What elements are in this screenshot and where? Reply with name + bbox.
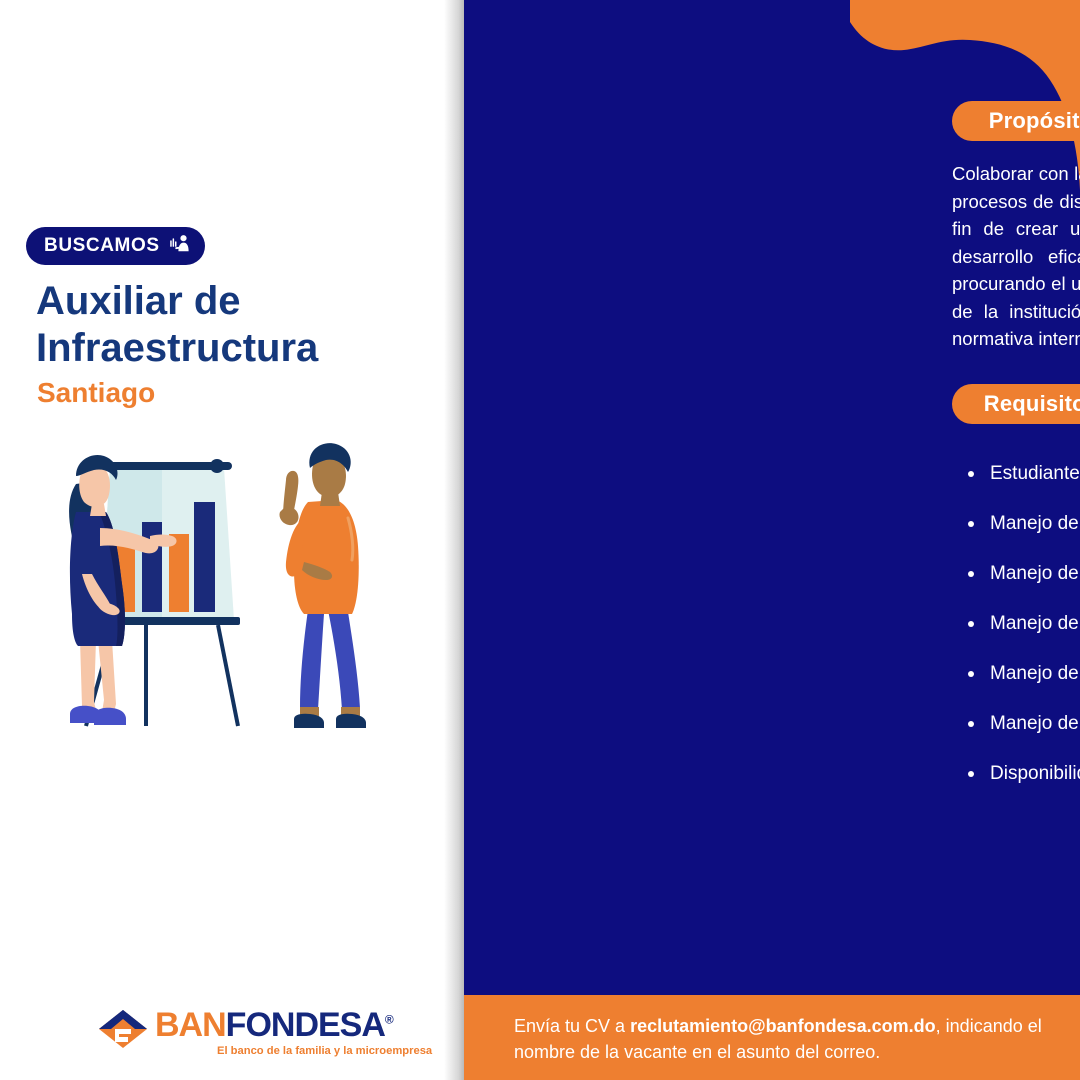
- job-posting-poster: BUSCAMOS Auxiliar de Infraestructura San…: [0, 0, 1080, 1080]
- apply-footer-bar: Envía tu CV a reclutamiento@banfondesa.c…: [464, 995, 1080, 1080]
- banfondesa-logo: BANFONDESA® El banco de la familia y la …: [95, 1004, 385, 1066]
- requisito-item: Manejo de Autocad avanzado.: [990, 612, 1080, 636]
- apply-lead-text: Envía tu CV a: [514, 1016, 630, 1036]
- panel-edge-shadow: [444, 0, 464, 1080]
- buscamos-label: BUSCAMOS: [44, 235, 160, 257]
- requisito-item: Estudiante de término o Arquitecto.: [990, 462, 1080, 486]
- logo-word-ban: BAN: [155, 1006, 226, 1044]
- logo-wordmark: BANFONDESA®: [155, 1006, 393, 1045]
- presentation-illustration: [42, 424, 392, 749]
- job-location: Santiago: [37, 377, 155, 409]
- section-badge-proposito: Propósito: [952, 101, 1080, 141]
- requisito-label: Manejo de Photoshop, Ilustrator e Indesi…: [990, 713, 1080, 734]
- person-at-desk-icon: [169, 234, 191, 259]
- page-title: Auxiliar de Infraestructura: [36, 278, 436, 372]
- requisito-label: Disponibilidad para viajar fuera de la c…: [990, 763, 1080, 784]
- content-panel: Propósito Colaborar con la planificación…: [464, 0, 1080, 1080]
- requisito-label: Estudiante de término o Arquitecto.: [990, 463, 1080, 484]
- bullet-icon: [968, 721, 974, 727]
- bullet-icon: [968, 621, 974, 627]
- logo-registered-mark: ®: [385, 1013, 393, 1027]
- apply-instructions: Envía tu CV a reclutamiento@banfondesa.c…: [514, 1013, 1044, 1065]
- recruitment-email[interactable]: reclutamiento@banfondesa.com.do: [630, 1016, 936, 1036]
- logo-tagline: El banco de la familia y la microempresa: [217, 1045, 432, 1057]
- requisito-item: Manejo de Project básico.: [990, 562, 1080, 586]
- requisitos-list: Estudiante de término o Arquitecto.Manej…: [960, 462, 1080, 812]
- requisito-item: Manejo de Word, Excel y PowerPoint inter…: [990, 512, 1080, 536]
- proposito-body: Colaborar con la planificación y coordin…: [952, 160, 1080, 353]
- bullet-icon: [968, 471, 974, 477]
- requisito-label: Manejo de Autocad avanzado.: [990, 613, 1080, 634]
- bullet-icon: [968, 521, 974, 527]
- bullet-icon: [968, 571, 974, 577]
- requisito-label: Manejo de Project básico.: [990, 563, 1080, 584]
- requisito-item: Manejo de Sketchup intermedio.: [990, 662, 1080, 686]
- requisito-item: Manejo de Photoshop, Ilustrator e Indesi…: [990, 712, 1080, 736]
- logo-word-fondesa: FONDESA: [226, 1006, 385, 1044]
- requisito-label: Manejo de Word, Excel y PowerPoint inter…: [990, 513, 1080, 534]
- bullet-icon: [968, 671, 974, 677]
- buscamos-badge: BUSCAMOS: [26, 227, 205, 265]
- bullet-icon: [968, 771, 974, 777]
- section-badge-requisitos: Requisitos: [952, 384, 1080, 424]
- requisito-label: Manejo de Sketchup intermedio.: [990, 663, 1080, 684]
- requisito-item: Disponibilidad para viajar fuera de la c…: [990, 762, 1080, 786]
